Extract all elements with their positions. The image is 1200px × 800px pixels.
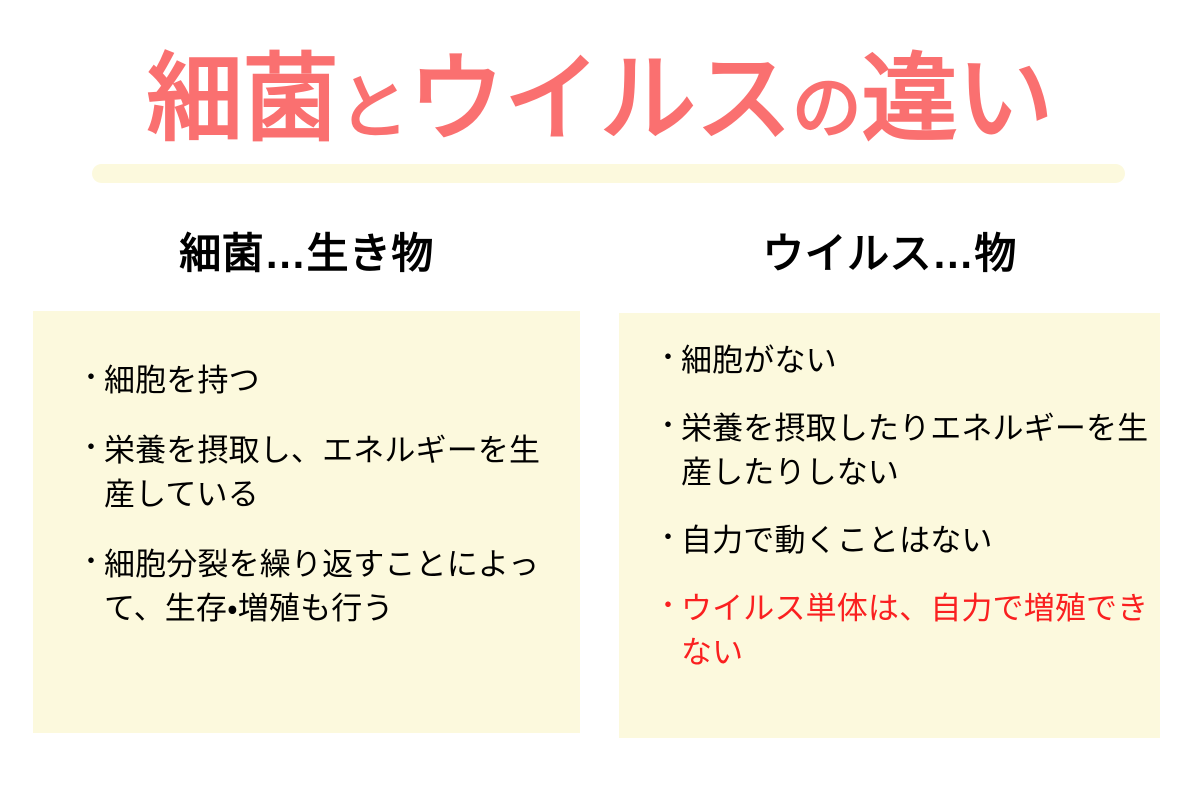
title-segment-5: 違い — [862, 46, 1054, 153]
list-item-highlighted: ・ ウイルス単体は、自力で増殖できない — [655, 587, 1150, 675]
bullet-dot-icon: ・ — [655, 587, 681, 624]
title-segment-3: ウイルス — [408, 46, 791, 153]
bullet-dot-icon: ・ — [78, 543, 104, 580]
list-item: ・ 細胞分裂を繰り返すことによって、生存・増殖も行う — [78, 543, 562, 631]
list-item-label: 自力で動くことはない — [681, 519, 1150, 563]
list-item: ・ 細胞を持つ — [78, 359, 562, 403]
column-heading-virus: ウイルス…物 — [619, 226, 1160, 282]
title-segment-1: 細菌 — [147, 46, 339, 153]
panel-bacteria: ・ 細胞を持つ ・ 栄養を摂取し、エネルギーを生産している ・ 細胞分裂を繰り返… — [33, 311, 580, 733]
bullet-dot-icon: ・ — [78, 359, 104, 396]
bullet-list-virus: ・ 細胞がない ・ 栄養を摂取したりエネルギーを生産したりしない ・ 自力で動く… — [619, 313, 1160, 738]
title-segment-4: の — [792, 69, 862, 147]
title-block: 細菌とウイルスの違い — [0, 52, 1200, 192]
bullet-dot-icon: ・ — [655, 519, 681, 556]
panel-virus: ・ 細胞がない ・ 栄養を摂取したりエネルギーを生産したりしない ・ 自力で動く… — [619, 313, 1160, 738]
title-segment-2: と — [338, 69, 408, 147]
list-item-label: 栄養を摂取したりエネルギーを生産したりしない — [681, 407, 1150, 495]
list-item-label: 細胞分裂を繰り返すことによって、生存・増殖も行う — [104, 543, 562, 631]
bullet-dot-icon: ・ — [78, 429, 104, 466]
list-item: ・ 栄養を摂取したりエネルギーを生産したりしない — [655, 407, 1150, 495]
bullet-list-bacteria: ・ 細胞を持つ ・ 栄養を摂取し、エネルギーを生産している ・ 細胞分裂を繰り返… — [33, 311, 580, 733]
title-highlight-bar — [92, 164, 1125, 183]
page-title: 細菌とウイルスの違い — [0, 52, 1200, 148]
list-item: ・ 細胞がない — [655, 339, 1150, 383]
list-item-label: 細胞がない — [681, 339, 1150, 383]
list-item: ・ 自力で動くことはない — [655, 519, 1150, 563]
list-item-label: 細胞を持つ — [104, 359, 562, 403]
bullet-dot-icon: ・ — [655, 407, 681, 444]
list-item: ・ 栄養を摂取し、エネルギーを生産している — [78, 429, 562, 517]
list-item-label: 栄養を摂取し、エネルギーを生産している — [104, 429, 562, 517]
slide-canvas: 細菌とウイルスの違い 細菌…生き物 ウイルス…物 ・ 細胞を持つ ・ 栄養を摂取… — [0, 0, 1200, 800]
list-item-label: ウイルス単体は、自力で増殖できない — [681, 587, 1150, 675]
column-heading-bacteria: 細菌…生き物 — [33, 226, 580, 282]
bullet-dot-icon: ・ — [655, 339, 681, 376]
